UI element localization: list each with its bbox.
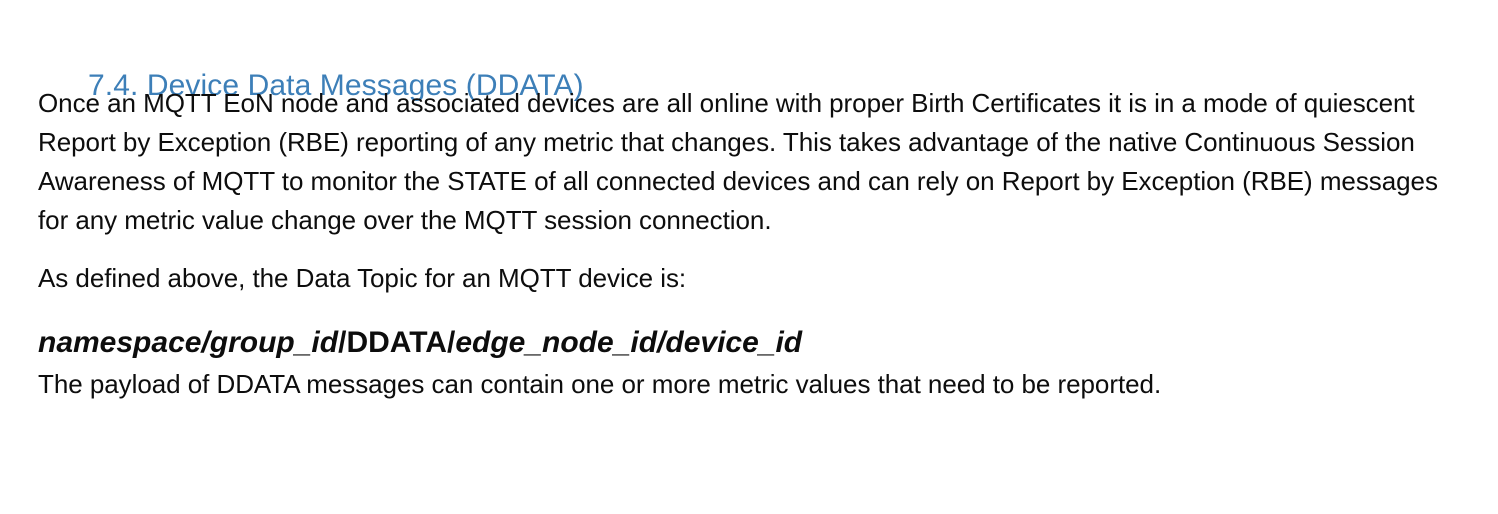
paragraph-intro: Once an MQTT EoN node and associated dev… bbox=[38, 84, 1438, 240]
document-page: 7.4. Device Data Messages (DDATA) Once a… bbox=[0, 0, 1498, 514]
paragraph-closing: The payload of DDATA messages can contai… bbox=[38, 365, 1458, 404]
topic-token-namespace-group: namespace/group_id bbox=[38, 326, 338, 359]
topic-token-message-type: DDATA bbox=[346, 326, 447, 359]
topic-string: namespace/group_id/DDATA/edge_node_id/de… bbox=[38, 321, 1458, 365]
paragraph-topic-lead-in: As defined above, the Data Topic for an … bbox=[38, 259, 1458, 298]
topic-token-edge-device: edge_node_id/device_id bbox=[455, 326, 802, 359]
document-body: Once an MQTT EoN node and associated dev… bbox=[38, 84, 1458, 404]
